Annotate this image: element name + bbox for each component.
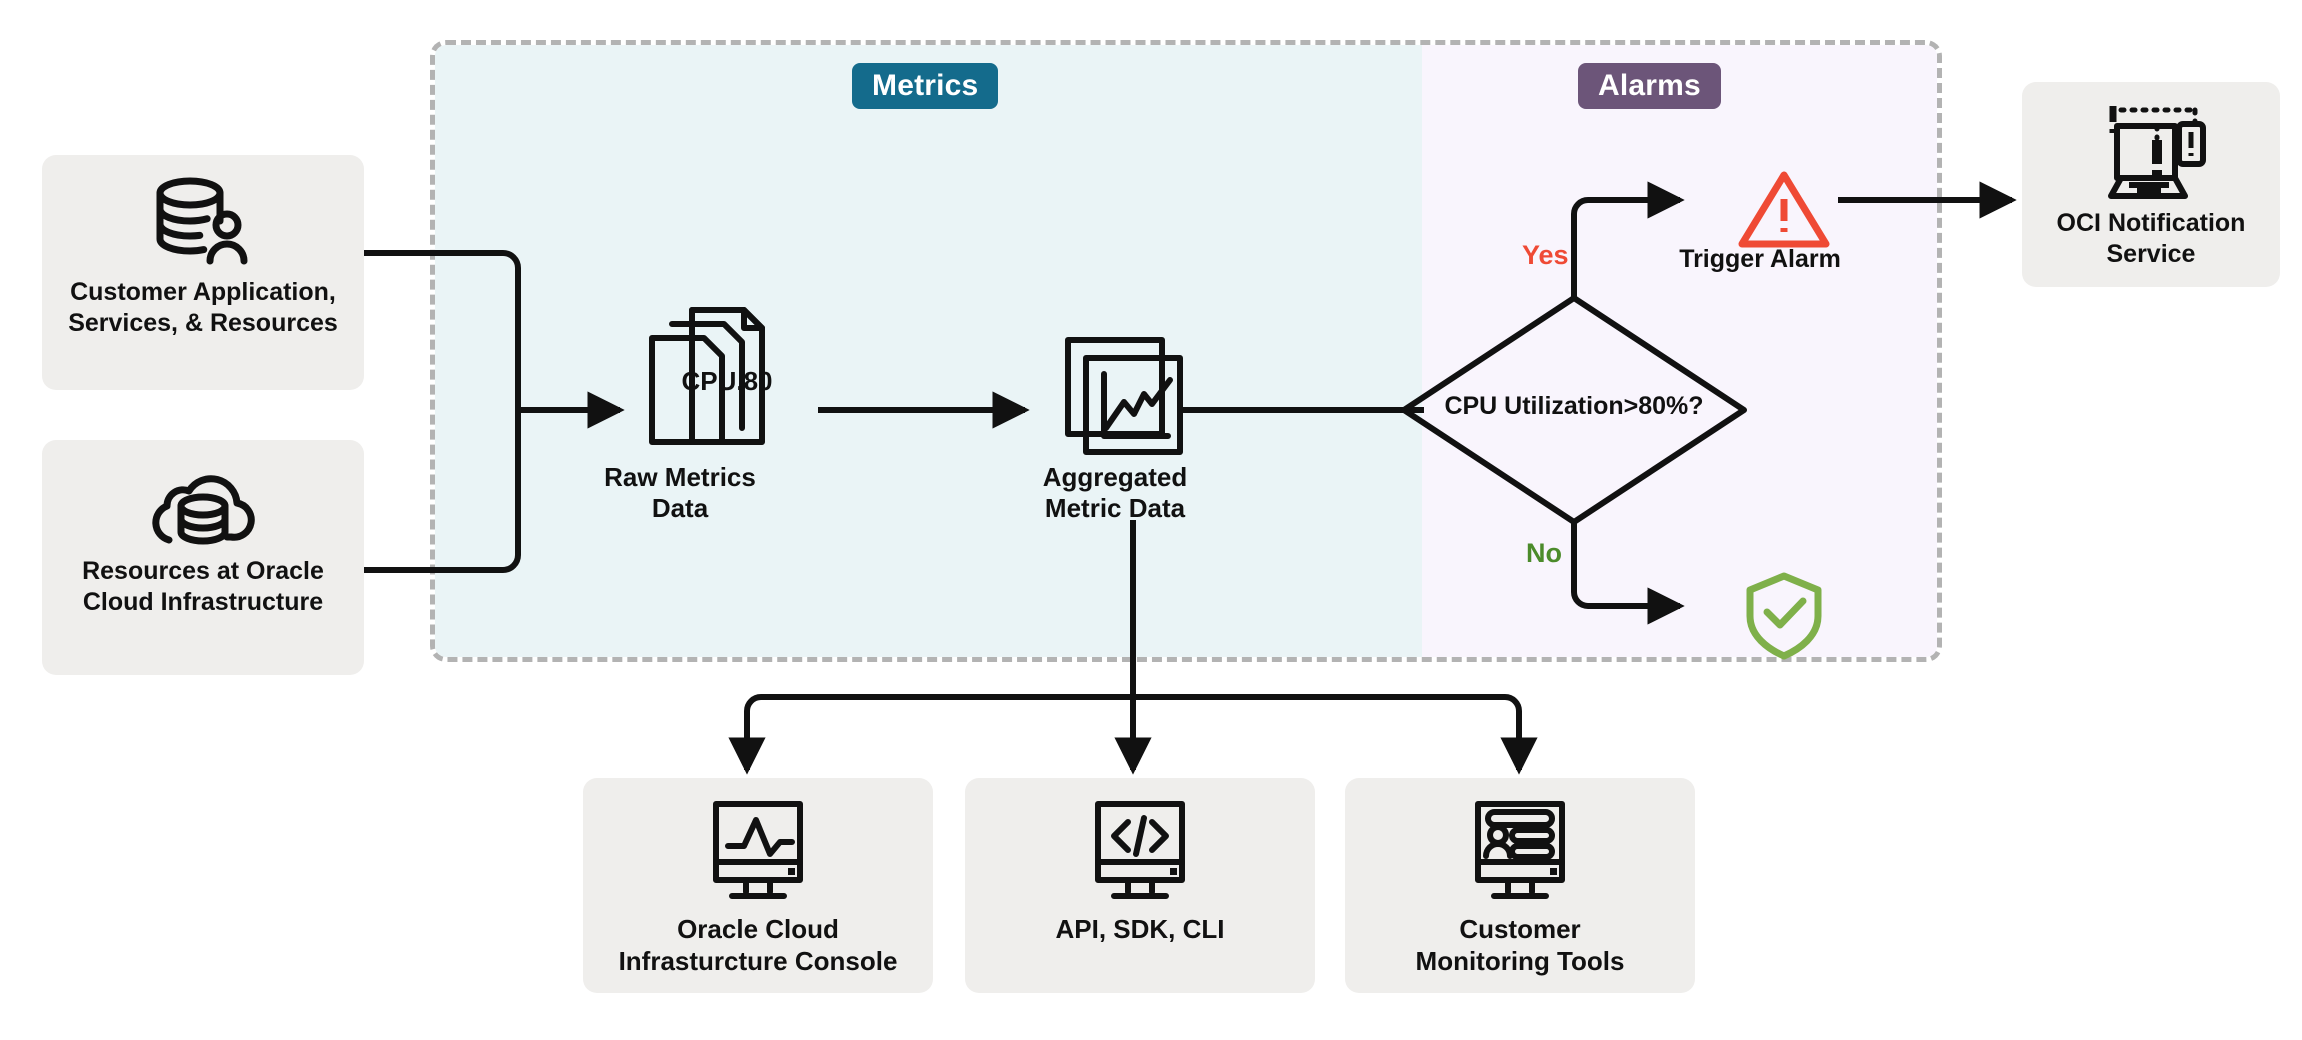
- database-user-icon: [148, 177, 258, 269]
- alarms-badge: Alarms: [1578, 63, 1721, 109]
- decision-diamond-text: CPU Utilization>80%?: [1404, 392, 1744, 421]
- diagram-canvas: Metrics Alarms Customer Application, Ser…: [0, 0, 2302, 1040]
- card-customer-application[interactable]: Customer Application, Services, & Resour…: [42, 155, 364, 390]
- alarms-panel-region: [1422, 45, 1937, 657]
- card-api-sdk-cli[interactable]: API, SDK, CLI: [965, 778, 1315, 993]
- card-oci-notification-service[interactable]: OCI Notification Service: [2022, 82, 2280, 287]
- laptop-alert-icon: [2091, 100, 2211, 200]
- metrics-panel-region: [435, 45, 1422, 657]
- metrics-badge: Metrics: [852, 63, 998, 109]
- cloud-database-icon: [145, 466, 261, 548]
- card-oracle-cloud-console[interactable]: Oracle Cloud Infrasturcture Console: [583, 778, 933, 993]
- card-caption: Oracle Cloud Infrasturcture Console: [619, 914, 898, 977]
- trigger-alarm-label: Trigger Alarm: [1620, 244, 1900, 274]
- card-caption: Customer Application, Services, & Resour…: [68, 277, 338, 338]
- card-caption: OCI Notification Service: [2057, 208, 2246, 269]
- monitor-code-icon: [1084, 798, 1196, 904]
- card-caption: Resources at Oracle Cloud Infrastructure: [82, 556, 324, 617]
- card-oci-resources[interactable]: Resources at Oracle Cloud Infrastructure: [42, 440, 364, 675]
- card-caption: Customer Monitoring Tools: [1416, 914, 1625, 977]
- branch-label-yes: Yes: [1522, 240, 1569, 271]
- monitor-user-icon: [1464, 798, 1576, 904]
- card-caption: API, SDK, CLI: [1055, 914, 1224, 946]
- card-customer-monitoring-tools[interactable]: Customer Monitoring Tools: [1345, 778, 1695, 993]
- aggregated-metric-data-label: Aggregated Metric Data: [985, 462, 1245, 524]
- branch-label-no: No: [1526, 538, 1562, 569]
- monitoring-container-panel: [430, 40, 1942, 662]
- monitor-chart-icon: [702, 798, 814, 904]
- raw-metrics-data-label: Raw Metrics Data: [565, 462, 795, 524]
